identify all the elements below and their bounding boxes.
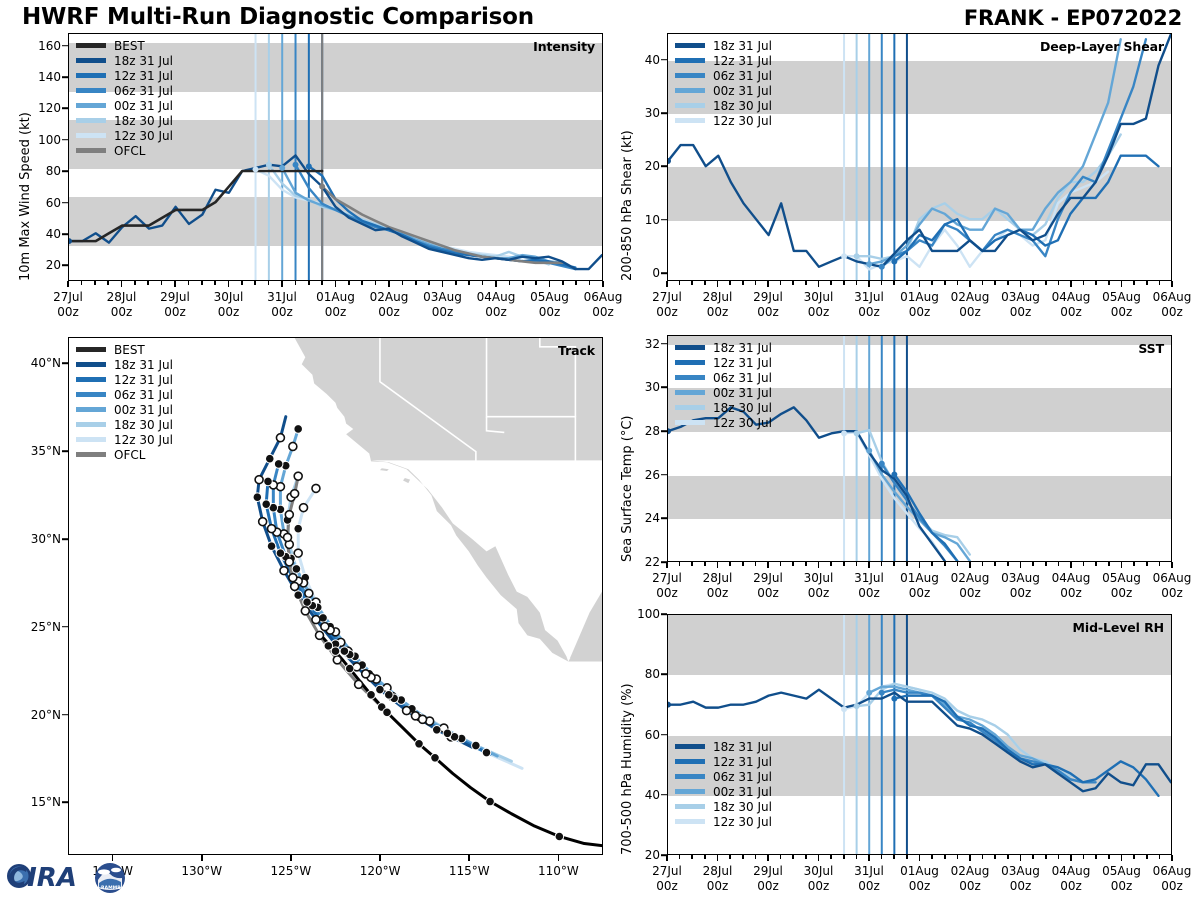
legend-label: 12z 30 Jul bbox=[713, 816, 772, 828]
x-tick-label: 28Jul00z bbox=[107, 290, 137, 319]
y-tick-label: 32 bbox=[645, 337, 660, 351]
track-legend: BEST18z 31 Jul12z 31 Jul06z 31 Jul00z 31… bbox=[76, 342, 173, 462]
series-start-marker bbox=[891, 259, 897, 265]
x-tick-hour: 00z bbox=[808, 879, 830, 893]
x-tick-mark bbox=[919, 281, 921, 287]
x-tick-mark bbox=[375, 281, 377, 285]
legend-swatch-icon bbox=[76, 452, 106, 457]
x-tick-mark bbox=[201, 281, 203, 285]
track-marker-filled bbox=[264, 477, 273, 486]
legend-item-00z-31-jul[interactable]: 00z 31 Jul bbox=[675, 83, 772, 98]
lon-tick-mark bbox=[290, 855, 292, 861]
series-start-marker bbox=[854, 703, 860, 709]
x-tick-day: 27Jul bbox=[652, 571, 682, 585]
legend-item-12z-31-jul[interactable]: 12z 31 Jul bbox=[675, 53, 772, 68]
legend-item-12z-30-jul[interactable]: 12z 30 Jul bbox=[76, 128, 173, 143]
legend-swatch-icon bbox=[76, 407, 106, 412]
x-tick-hour: 00z bbox=[656, 879, 678, 893]
x-tick-day: 27Jul bbox=[652, 290, 682, 304]
x-tick-day: 02Aug bbox=[951, 864, 990, 878]
x-tick-mark bbox=[704, 855, 706, 859]
lat-tick-mark bbox=[62, 363, 68, 365]
x-tick-label: 29Jul00z bbox=[160, 290, 190, 319]
x-tick-hour: 00z bbox=[808, 586, 830, 600]
legend-item-12z-30-jul[interactable]: 12z 30 Jul bbox=[675, 814, 772, 829]
y-tick-mark bbox=[661, 430, 667, 432]
y-tick-mark bbox=[62, 45, 68, 47]
x-tick-day: 04Aug bbox=[1052, 571, 1091, 585]
legend-label: BEST bbox=[114, 40, 145, 52]
x-tick-mark bbox=[742, 281, 744, 285]
x-tick-mark bbox=[969, 281, 971, 287]
legend-item-18z-30-jul[interactable]: 18z 30 Jul bbox=[675, 98, 772, 113]
lat-tick-label: 35°N bbox=[31, 444, 61, 458]
x-tick-mark bbox=[767, 281, 769, 287]
x-tick-mark bbox=[944, 855, 946, 859]
x-tick-mark bbox=[982, 562, 984, 566]
track-marker-open bbox=[300, 504, 308, 512]
legend-item-00z-31-jul[interactable]: 00z 31 Jul bbox=[76, 98, 173, 113]
series-start-marker bbox=[854, 430, 860, 436]
x-tick-hour: 00z bbox=[858, 586, 880, 600]
x-tick-label: 02Aug00z bbox=[951, 571, 990, 600]
x-tick-mark bbox=[121, 281, 123, 287]
legend-swatch-icon bbox=[675, 819, 705, 824]
legend-item-best[interactable]: BEST bbox=[76, 342, 173, 357]
x-tick-mark bbox=[982, 855, 984, 859]
x-tick-hour: 00z bbox=[432, 305, 454, 319]
track-marker-filled bbox=[294, 524, 303, 533]
x-tick-mark bbox=[1070, 855, 1072, 861]
x-tick-mark bbox=[1070, 281, 1072, 287]
legend-swatch-icon bbox=[76, 392, 106, 397]
x-tick-label: 27Jul00z bbox=[652, 290, 682, 319]
diagnostic-dashboard: HWRF Multi-Run Diagnostic Comparison FRA… bbox=[0, 0, 1200, 900]
legend-label: 06z 31 Jul bbox=[114, 85, 173, 97]
x-tick-mark bbox=[522, 281, 524, 285]
lon-tick-label: 110°W bbox=[538, 864, 579, 879]
legend-item-12z-30-jul[interactable]: 12z 30 Jul bbox=[76, 432, 173, 447]
legend-label: 12z 31 Jul bbox=[114, 70, 173, 82]
x-tick-mark bbox=[1146, 855, 1148, 859]
legend-swatch-icon bbox=[76, 377, 106, 382]
lat-tick-label: 30°N bbox=[31, 532, 61, 546]
x-tick-mark bbox=[575, 281, 577, 285]
x-tick-hour: 00z bbox=[707, 879, 729, 893]
x-tick-mark bbox=[944, 562, 946, 566]
legend-item-18z-30-jul[interactable]: 18z 30 Jul bbox=[76, 417, 173, 432]
legend-item-18z-31-jul[interactable]: 18z 31 Jul bbox=[675, 38, 772, 53]
y-tick-mark bbox=[62, 139, 68, 141]
x-tick-label: 28Jul00z bbox=[703, 290, 733, 319]
lat-tick-mark bbox=[62, 626, 68, 628]
x-tick-hour: 00z bbox=[111, 305, 133, 319]
track-marker-open bbox=[362, 670, 370, 678]
track-title: Track bbox=[558, 343, 595, 358]
legend-item-12z-31-jul[interactable]: 12z 31 Jul bbox=[76, 68, 173, 83]
y-tick-label: 60 bbox=[46, 196, 61, 210]
x-tick-mark bbox=[1171, 281, 1173, 287]
x-tick-mark bbox=[1058, 562, 1060, 566]
legend-label: 12z 30 Jul bbox=[114, 130, 173, 142]
x-tick-hour: 00z bbox=[1060, 305, 1082, 319]
x-tick-label: 27Jul00z bbox=[652, 864, 682, 893]
x-tick-hour: 00z bbox=[1111, 879, 1133, 893]
x-tick-mark bbox=[856, 281, 858, 285]
legend-swatch-icon bbox=[675, 759, 705, 764]
x-tick-hour: 00z bbox=[757, 586, 779, 600]
x-tick-mark bbox=[881, 562, 883, 566]
x-tick-label: 05Aug00z bbox=[1102, 290, 1141, 319]
x-tick-mark bbox=[919, 562, 921, 568]
series-start-marker bbox=[293, 162, 299, 168]
intensity-title: Intensity bbox=[533, 39, 595, 54]
x-tick-mark bbox=[415, 281, 417, 285]
y-tick-mark bbox=[661, 387, 667, 389]
x-tick-mark bbox=[495, 281, 497, 287]
x-tick-label: 31Jul00z bbox=[854, 571, 884, 600]
x-tick-mark bbox=[308, 281, 310, 285]
legend-swatch-icon bbox=[76, 347, 106, 352]
legend-swatch-icon bbox=[675, 88, 705, 93]
x-tick-mark bbox=[549, 281, 551, 287]
legend-item-06z-31-jul[interactable]: 06z 31 Jul bbox=[675, 68, 772, 83]
series-start-marker bbox=[253, 166, 259, 172]
y-tick-label: 80 bbox=[46, 164, 61, 178]
legend-item-12z-30-jul[interactable]: 12z 30 Jul bbox=[675, 113, 772, 128]
x-tick-mark bbox=[792, 281, 794, 285]
legend-item-18z-31-jul[interactable]: 18z 31 Jul bbox=[675, 739, 772, 754]
x-tick-mark bbox=[1108, 281, 1110, 285]
y-tick-mark bbox=[661, 734, 667, 736]
x-tick-day: 04Aug bbox=[1052, 864, 1091, 878]
x-tick-hour: 00z bbox=[1161, 586, 1183, 600]
x-tick-hour: 00z bbox=[485, 305, 507, 319]
lon-tick-mark bbox=[201, 855, 203, 861]
y-tick-label: 20 bbox=[46, 258, 61, 272]
x-tick-mark bbox=[969, 855, 971, 861]
legend-item-18z-31-jul[interactable]: 18z 31 Jul bbox=[76, 53, 173, 68]
lon-tick-mark bbox=[379, 855, 381, 861]
track-marker-filled bbox=[376, 685, 385, 694]
x-tick-day: 28Jul bbox=[703, 290, 733, 304]
x-tick-mark bbox=[1045, 281, 1047, 285]
legend-label: 12z 31 Jul bbox=[114, 374, 173, 386]
legend-item-06z-31-jul[interactable]: 06z 31 Jul bbox=[675, 769, 772, 784]
series-start-marker bbox=[279, 165, 285, 171]
x-tick-mark bbox=[134, 281, 136, 285]
y-tick-label: 100 bbox=[637, 607, 660, 621]
track-marker-open bbox=[305, 589, 313, 597]
x-tick-mark bbox=[348, 281, 350, 285]
sst-title: SST bbox=[1138, 341, 1164, 356]
x-tick-hour: 00z bbox=[378, 305, 400, 319]
legend-swatch-icon bbox=[76, 103, 106, 108]
y-tick-label: 10 bbox=[645, 213, 660, 227]
legend-label: 00z 31 Jul bbox=[713, 387, 772, 399]
x-tick-day: 31Jul bbox=[854, 571, 884, 585]
x-tick-mark bbox=[906, 562, 908, 566]
y-tick-mark bbox=[661, 474, 667, 476]
series-start-marker bbox=[854, 253, 860, 259]
x-tick-mark bbox=[1171, 855, 1173, 861]
x-tick-label: 29Jul00z bbox=[753, 864, 783, 893]
legend-label: 00z 31 Jul bbox=[713, 786, 772, 798]
x-tick-day: 06Aug bbox=[1153, 571, 1192, 585]
x-tick-hour: 00z bbox=[707, 305, 729, 319]
legend-label: 18z 30 Jul bbox=[713, 801, 772, 813]
series-start-marker bbox=[266, 162, 272, 168]
x-tick-label: 30Jul00z bbox=[804, 571, 834, 600]
x-tick-mark bbox=[982, 281, 984, 285]
legend-item-06z-31-jul[interactable]: 06z 31 Jul bbox=[76, 387, 173, 402]
x-tick-mark bbox=[1070, 562, 1072, 568]
x-tick-mark bbox=[1159, 562, 1161, 566]
legend-item-18z-30-jul[interactable]: 18z 30 Jul bbox=[675, 400, 772, 415]
x-tick-label: 05Aug00z bbox=[530, 290, 569, 319]
track-marker-filled bbox=[345, 664, 354, 673]
y-tick-mark bbox=[661, 673, 667, 675]
track-marker-open bbox=[291, 582, 299, 590]
track-marker-open bbox=[312, 484, 320, 492]
x-tick-mark bbox=[1108, 855, 1110, 859]
x-tick-mark bbox=[1159, 855, 1161, 859]
x-tick-label: 04Aug00z bbox=[477, 290, 516, 319]
x-tick-label: 27Jul00z bbox=[53, 290, 83, 319]
x-tick-mark bbox=[780, 562, 782, 566]
x-tick-mark bbox=[1032, 562, 1034, 566]
x-tick-mark bbox=[1095, 562, 1097, 566]
x-tick-label: 30Jul00z bbox=[804, 290, 834, 319]
legend-swatch-icon bbox=[76, 148, 106, 153]
track-marker-filled bbox=[443, 729, 452, 738]
x-tick-day: 05Aug bbox=[530, 290, 569, 304]
track-marker-filled bbox=[294, 425, 303, 434]
x-tick-day: 27Jul bbox=[652, 864, 682, 878]
y-tick-mark bbox=[661, 112, 667, 114]
x-tick-mark bbox=[468, 281, 470, 285]
x-tick-hour: 00z bbox=[959, 305, 981, 319]
x-tick-label: 06Aug00z bbox=[1153, 864, 1192, 893]
track-marker-filled bbox=[253, 493, 262, 502]
legend-item-18z-30-jul[interactable]: 18z 30 Jul bbox=[76, 113, 173, 128]
x-tick-day: 29Jul bbox=[753, 864, 783, 878]
x-tick-mark bbox=[161, 281, 163, 285]
x-tick-day: 29Jul bbox=[160, 290, 190, 304]
x-tick-mark bbox=[281, 281, 283, 287]
x-tick-mark bbox=[994, 281, 996, 285]
x-tick-mark bbox=[881, 281, 883, 285]
x-tick-mark bbox=[388, 281, 390, 287]
legend-item-00z-31-jul[interactable]: 00z 31 Jul bbox=[675, 784, 772, 799]
x-tick-mark bbox=[1007, 562, 1009, 566]
x-tick-label: 30Jul00z bbox=[804, 864, 834, 893]
x-tick-mark bbox=[780, 855, 782, 859]
y-tick-mark bbox=[661, 272, 667, 274]
x-tick-hour: 00z bbox=[959, 586, 981, 600]
x-tick-mark bbox=[602, 281, 604, 287]
track-marker-filled bbox=[432, 726, 441, 735]
legend-item-best[interactable]: BEST bbox=[76, 38, 173, 53]
x-tick-mark bbox=[67, 281, 69, 287]
shear-legend: 18z 31 Jul12z 31 Jul06z 31 Jul00z 31 Jul… bbox=[675, 38, 772, 128]
x-tick-day: 31Jul bbox=[854, 290, 884, 304]
legend-item-12z-31-jul[interactable]: 12z 31 Jul bbox=[76, 372, 173, 387]
x-tick-mark bbox=[994, 855, 996, 859]
x-tick-mark bbox=[1121, 281, 1123, 287]
x-tick-mark bbox=[1020, 855, 1022, 861]
legend-item-18z-30-jul[interactable]: 18z 30 Jul bbox=[675, 799, 772, 814]
series-line bbox=[844, 684, 1045, 762]
x-tick-day: 30Jul bbox=[804, 571, 834, 585]
x-tick-label: 01Aug00z bbox=[900, 290, 939, 319]
series-start-marker bbox=[866, 261, 872, 267]
legend-swatch-icon bbox=[675, 73, 705, 78]
x-tick-hour: 00z bbox=[592, 305, 614, 319]
x-tick-mark bbox=[691, 855, 693, 859]
track-marker-open bbox=[285, 511, 293, 519]
y-tick-label: 40 bbox=[46, 227, 61, 241]
x-tick-mark bbox=[321, 281, 323, 285]
lat-tick-label: 20°N bbox=[31, 708, 61, 722]
track-marker-filled bbox=[324, 642, 333, 651]
lat-tick-mark bbox=[62, 538, 68, 540]
x-tick-mark bbox=[1007, 281, 1009, 285]
legend-item-12z-30-jul[interactable]: 12z 30 Jul bbox=[675, 415, 772, 430]
x-tick-mark bbox=[666, 562, 668, 568]
legend-item-06z-31-jul[interactable]: 06z 31 Jul bbox=[76, 83, 173, 98]
legend-item-00z-31-jul[interactable]: 00z 31 Jul bbox=[76, 402, 173, 417]
lat-tick-label: 25°N bbox=[31, 620, 61, 634]
lon-tick-mark bbox=[468, 855, 470, 861]
track-marker-open bbox=[291, 490, 299, 498]
x-tick-day: 01Aug bbox=[316, 290, 355, 304]
track-marker-filled bbox=[486, 797, 495, 806]
y-tick-label: 20 bbox=[645, 159, 660, 173]
legend-swatch-icon bbox=[76, 73, 106, 78]
x-tick-label: 03Aug00z bbox=[1001, 290, 1040, 319]
x-tick-hour: 00z bbox=[1111, 305, 1133, 319]
x-tick-mark bbox=[729, 855, 731, 859]
x-tick-mark bbox=[780, 281, 782, 285]
svg-text:CIRA: CIRA bbox=[8, 863, 77, 893]
y-tick-label: 0 bbox=[652, 266, 660, 280]
x-tick-hour: 00z bbox=[757, 305, 779, 319]
track-marker-open bbox=[411, 712, 419, 720]
x-tick-label: 02Aug00z bbox=[951, 864, 990, 893]
track-marker-filled bbox=[303, 598, 312, 607]
y-tick-mark bbox=[661, 343, 667, 345]
x-tick-mark bbox=[1121, 562, 1123, 568]
legend-swatch-icon bbox=[675, 789, 705, 794]
track-marker-filled bbox=[276, 549, 285, 558]
x-tick-label: 06Aug00z bbox=[1153, 571, 1192, 600]
legend-swatch-icon bbox=[675, 375, 705, 380]
legend-item-12z-31-jul[interactable]: 12z 31 Jul bbox=[675, 355, 772, 370]
legend-item-ofcl[interactable]: OFCL bbox=[76, 143, 173, 158]
x-tick-mark bbox=[1146, 562, 1148, 566]
x-tick-hour: 00z bbox=[959, 879, 981, 893]
track-marker-open bbox=[276, 434, 284, 442]
x-tick-day: 04Aug bbox=[1052, 290, 1091, 304]
x-tick-mark bbox=[969, 562, 971, 568]
x-tick-label: 04Aug00z bbox=[1052, 864, 1091, 893]
series-line bbox=[282, 168, 562, 263]
x-tick-label: 03Aug00z bbox=[423, 290, 462, 319]
legend-label: 12z 31 Jul bbox=[713, 756, 772, 768]
x-tick-hour: 00z bbox=[1111, 586, 1133, 600]
legend-label: 18z 30 Jul bbox=[114, 419, 173, 431]
x-tick-mark bbox=[666, 281, 668, 287]
legend-label: 18z 31 Jul bbox=[713, 741, 772, 753]
legend-label: 12z 30 Jul bbox=[713, 115, 772, 127]
x-tick-mark bbox=[818, 562, 820, 568]
x-tick-hour: 00z bbox=[1010, 305, 1032, 319]
x-tick-mark bbox=[679, 562, 681, 566]
x-tick-day: 03Aug bbox=[1001, 571, 1040, 585]
cira-logo: CIRA RAMMB bbox=[6, 856, 128, 898]
legend-item-12z-31-jul[interactable]: 12z 31 Jul bbox=[675, 754, 772, 769]
x-tick-hour: 00z bbox=[909, 586, 931, 600]
legend-item-ofcl[interactable]: OFCL bbox=[76, 447, 173, 462]
y-tick-label: 20 bbox=[645, 848, 660, 862]
x-tick-mark bbox=[679, 855, 681, 859]
x-tick-mark bbox=[805, 562, 807, 566]
x-tick-mark bbox=[1133, 562, 1135, 566]
x-tick-mark bbox=[1045, 562, 1047, 566]
legend-item-18z-31-jul[interactable]: 18z 31 Jul bbox=[76, 357, 173, 372]
x-tick-mark bbox=[755, 281, 757, 285]
x-tick-mark bbox=[1121, 855, 1123, 861]
series-start-marker bbox=[866, 448, 872, 454]
x-tick-mark bbox=[81, 281, 83, 285]
x-tick-mark bbox=[254, 281, 256, 285]
legend-label: 12z 31 Jul bbox=[713, 357, 772, 369]
track-marker-open bbox=[333, 656, 341, 664]
legend-item-06z-31-jul[interactable]: 06z 31 Jul bbox=[675, 370, 772, 385]
page-title: HWRF Multi-Run Diagnostic Comparison bbox=[22, 4, 534, 30]
legend-swatch-icon bbox=[675, 103, 705, 108]
y-tick-mark bbox=[62, 202, 68, 204]
y-tick-mark bbox=[62, 265, 68, 267]
x-tick-mark bbox=[188, 281, 190, 285]
y-tick-mark bbox=[661, 518, 667, 520]
shear-title: Deep-Layer Shear bbox=[1040, 39, 1164, 54]
legend-item-18z-31-jul[interactable]: 18z 31 Jul bbox=[675, 340, 772, 355]
x-tick-mark bbox=[1146, 281, 1148, 285]
x-tick-mark bbox=[1133, 855, 1135, 859]
track-marker-open bbox=[268, 525, 276, 533]
series-start-marker bbox=[306, 163, 312, 169]
legend-item-00z-31-jul[interactable]: 00z 31 Jul bbox=[675, 385, 772, 400]
x-tick-label: 05Aug00z bbox=[1102, 571, 1141, 600]
x-tick-mark bbox=[830, 281, 832, 285]
x-tick-day: 05Aug bbox=[1102, 290, 1141, 304]
y-tick-label: 24 bbox=[645, 511, 660, 525]
x-tick-mark bbox=[1020, 281, 1022, 287]
x-tick-mark bbox=[1108, 562, 1110, 566]
x-tick-label: 01Aug00z bbox=[900, 864, 939, 893]
x-tick-mark bbox=[893, 562, 895, 566]
track-marker-open bbox=[255, 476, 263, 484]
x-tick-mark bbox=[147, 281, 149, 285]
track-marker-filled bbox=[472, 741, 481, 750]
legend-swatch-icon bbox=[675, 58, 705, 63]
series-line bbox=[857, 430, 970, 554]
x-tick-day: 06Aug bbox=[1153, 864, 1192, 878]
x-tick-mark bbox=[361, 281, 363, 285]
track-marker-filled bbox=[267, 542, 276, 551]
